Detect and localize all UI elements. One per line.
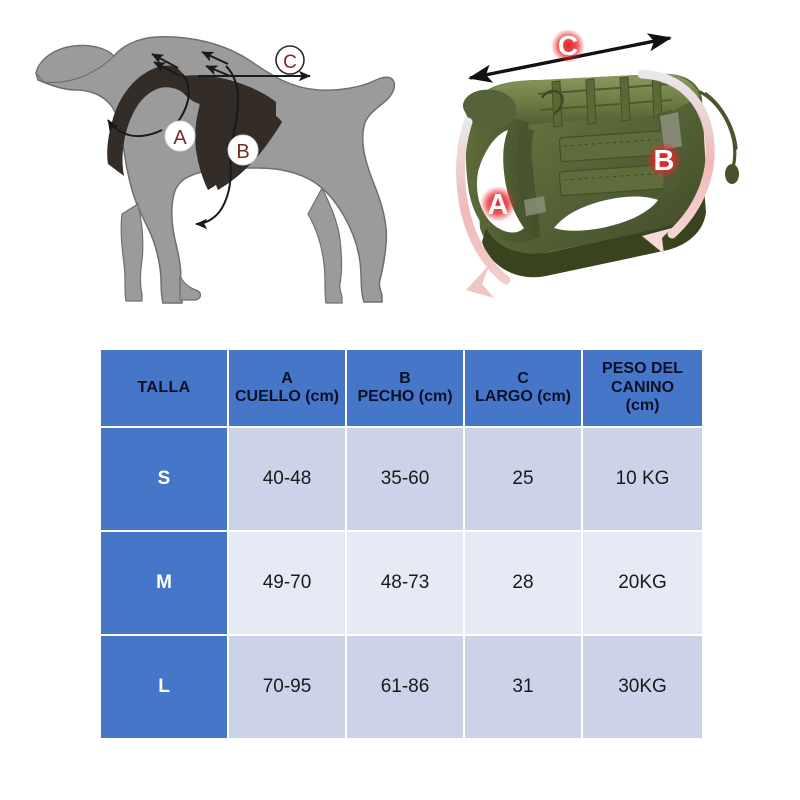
marker-badge-c-photo: C (551, 29, 585, 63)
cell-s-pecho: 35-60 (346, 427, 464, 531)
cell-l-cuello: 70-95 (228, 635, 346, 739)
marker-badge-c: C (276, 46, 304, 74)
header-largo-label: LARGO (cm) (469, 388, 577, 406)
marker-label-b-photo: B (654, 145, 675, 177)
marker-label-b: B (236, 141, 249, 163)
table-row: L 70-95 61-86 31 30KG (100, 635, 703, 739)
marker-badge-b-photo: B (646, 142, 682, 178)
table-row: S 40-48 35-60 25 10 KG (100, 427, 703, 531)
cell-s-peso: 10 KG (582, 427, 703, 531)
marker-badge-a-photo: A (480, 186, 516, 222)
cell-l-pecho: 61-86 (346, 635, 464, 739)
marker-badge-a: A (165, 121, 195, 151)
marker-label-c: C (283, 52, 297, 73)
cord-lock (725, 164, 739, 184)
header-largo: C LARGO (cm) (464, 349, 582, 427)
header-peso-line2: CANINO (587, 379, 698, 397)
row-size-m: M (100, 531, 228, 635)
illustrations-row: A B C (0, 0, 800, 330)
header-cuello: A CUELLO (cm) (228, 349, 346, 427)
cell-l-peso: 30KG (582, 635, 703, 739)
dog-harness-measurement-diagram: A B C (30, 18, 400, 318)
marker-label-c-photo: C (558, 30, 578, 61)
header-largo-letter: C (469, 370, 577, 388)
header-talla-label: TALLA (105, 379, 223, 397)
header-peso-line1: PESO DEL (587, 360, 698, 378)
cell-m-peso: 20KG (582, 531, 703, 635)
header-cuello-label: CUELLO (cm) (233, 388, 341, 406)
table-header-row: TALLA A CUELLO (cm) B PECHO (cm) C LARGO… (100, 349, 703, 427)
tactical-harness-product-photo: C A B (420, 22, 780, 314)
header-pecho: B PECHO (cm) (346, 349, 464, 427)
cell-m-cuello: 49-70 (228, 531, 346, 635)
table-row: M 49-70 48-73 28 20KG (100, 531, 703, 635)
cell-m-largo: 28 (464, 531, 582, 635)
cell-s-largo: 25 (464, 427, 582, 531)
size-chart-page: A B C (0, 0, 800, 800)
header-cuello-letter: A (233, 370, 341, 388)
marker-label-a: A (173, 127, 187, 149)
header-pecho-letter: B (351, 370, 459, 388)
header-peso-unit: (cm) (587, 397, 698, 415)
size-chart-table: TALLA A CUELLO (cm) B PECHO (cm) C LARGO… (100, 349, 703, 739)
row-size-l: L (100, 635, 228, 739)
cell-l-largo: 31 (464, 635, 582, 739)
cell-m-pecho: 48-73 (346, 531, 464, 635)
row-size-s: S (100, 427, 228, 531)
header-talla: TALLA (100, 349, 228, 427)
marker-label-a-photo: A (488, 189, 509, 221)
cell-s-cuello: 40-48 (228, 427, 346, 531)
marker-badge-b: B (228, 135, 258, 165)
header-pecho-label: PECHO (cm) (351, 388, 459, 406)
header-peso: PESO DEL CANINO (cm) (582, 349, 703, 427)
